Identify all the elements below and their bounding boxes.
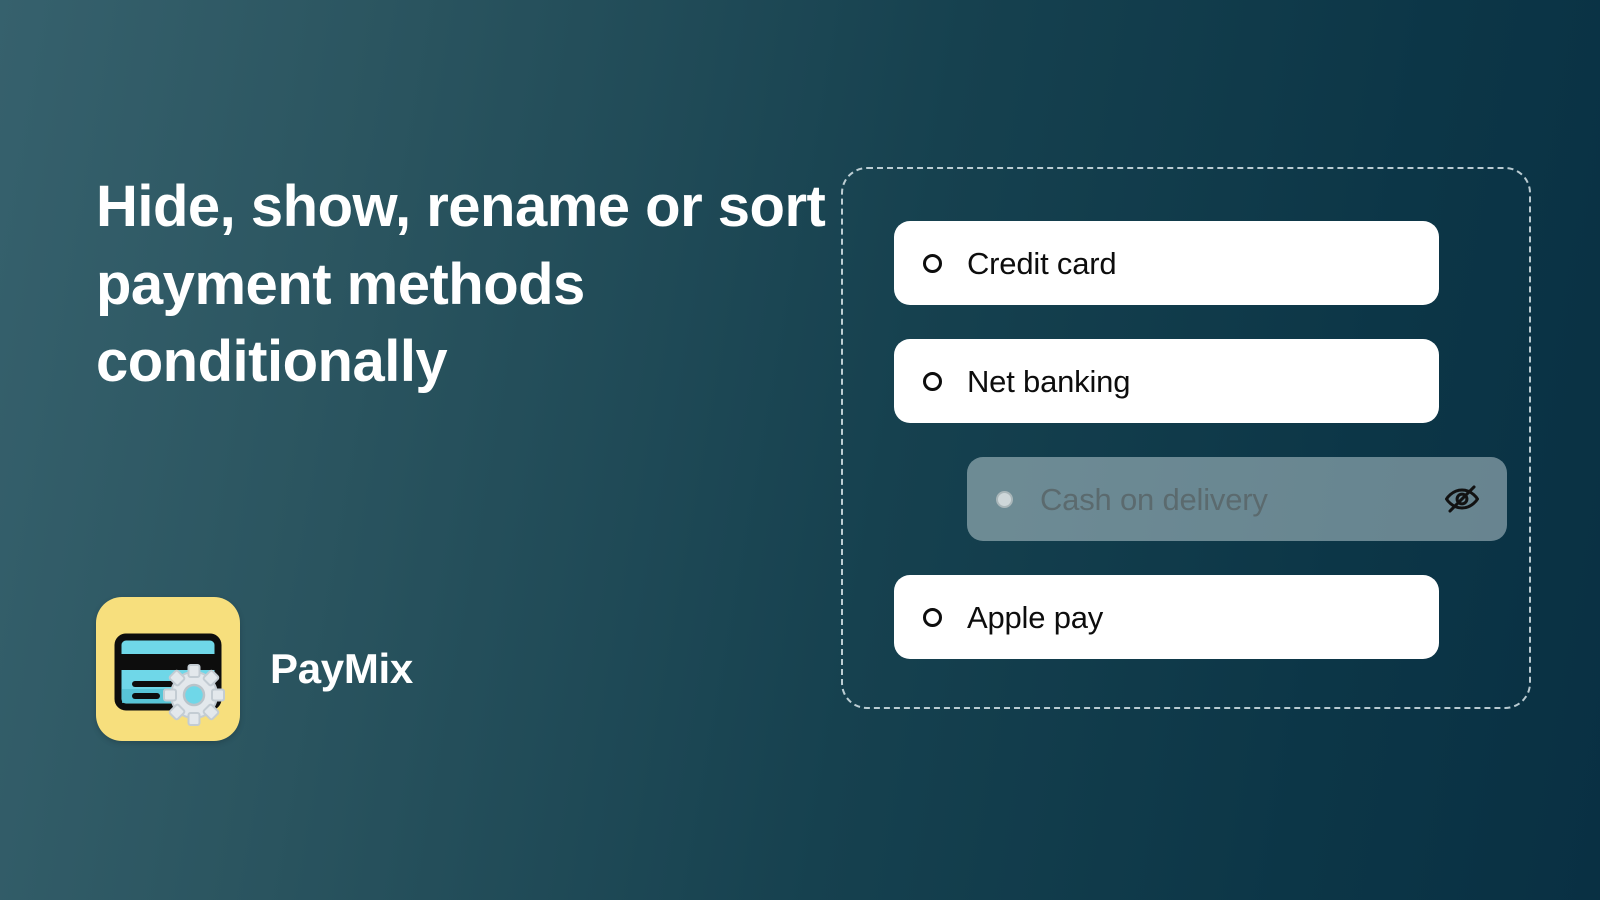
page-title: Hide, show, rename or sort payment metho…	[96, 168, 826, 401]
payment-method-row[interactable]: Net banking	[894, 339, 1439, 423]
payment-method-label: Net banking	[967, 366, 1130, 397]
payment-methods-list: Credit card Net banking Cash on delivery	[843, 169, 1533, 711]
payment-methods-dropzone: Credit card Net banking Cash on delivery	[841, 167, 1531, 709]
payment-method-row[interactable]: Apple pay	[894, 575, 1439, 659]
brand-name: PayMix	[270, 648, 413, 690]
radio-unchecked-icon[interactable]	[923, 372, 942, 391]
payment-method-label: Apple pay	[967, 602, 1103, 633]
payment-method-label: Cash on delivery	[1040, 484, 1268, 515]
credit-card-gear-icon	[96, 597, 240, 741]
radio-unchecked-icon[interactable]	[923, 608, 942, 627]
payment-method-row[interactable]: Credit card	[894, 221, 1439, 305]
payment-method-row-hidden[interactable]: Cash on delivery	[967, 457, 1507, 541]
eye-off-icon[interactable]	[1443, 480, 1481, 518]
promo-canvas: Hide, show, rename or sort payment metho…	[0, 0, 1600, 900]
brand-lockup: PayMix	[96, 597, 413, 741]
hero-text-block: Hide, show, rename or sort payment metho…	[96, 168, 826, 401]
payment-method-label: Credit card	[967, 248, 1116, 279]
radio-disabled-icon[interactable]	[996, 491, 1013, 508]
radio-unchecked-icon[interactable]	[923, 254, 942, 273]
